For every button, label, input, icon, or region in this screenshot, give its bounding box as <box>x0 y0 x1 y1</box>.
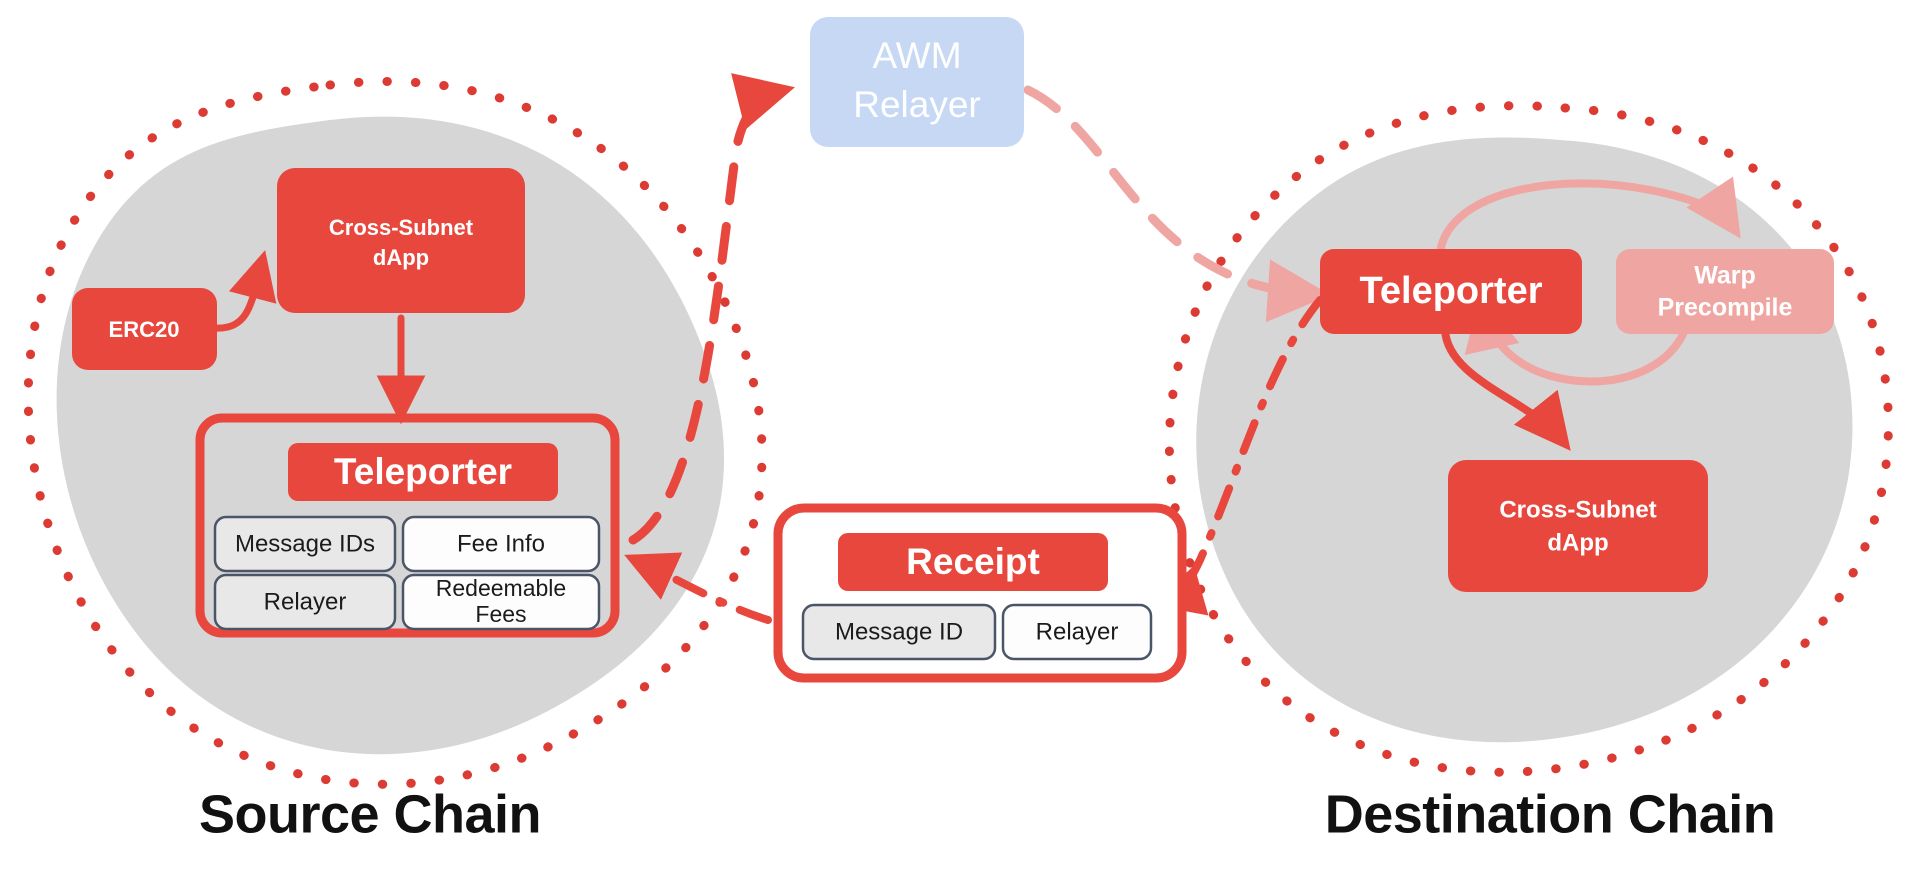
awm-relayer-label-line2: Relayer <box>853 84 981 125</box>
node-receipt[interactable]: Receipt Message ID Relayer <box>778 508 1182 678</box>
node-destination-cross-subnet-dapp[interactable]: Cross-Subnet dApp <box>1448 460 1708 592</box>
source-dapp-box[interactable] <box>277 168 525 313</box>
source-dapp-label-line1: Cross-Subnet <box>329 215 474 240</box>
destination-chain-blob-fill <box>1196 137 1852 742</box>
receipt-field-relayer-label: Relayer <box>1036 618 1119 645</box>
source-field-fee-info-label: Fee Info <box>457 530 545 557</box>
source-field-relayer-label: Relayer <box>264 588 347 615</box>
destination-dapp-box[interactable] <box>1448 460 1708 592</box>
warp-precompile-label-line2: Precompile <box>1658 294 1793 322</box>
receipt-field-relayer[interactable]: Relayer <box>1003 605 1151 659</box>
source-field-redeemable-fees-label-line2: Fees <box>475 601 526 627</box>
destination-dapp-label-line1: Cross-Subnet <box>1499 496 1656 523</box>
receipt-field-message-id[interactable]: Message ID <box>803 605 995 659</box>
destination-dapp-label-line2: dApp <box>1547 529 1608 556</box>
awm-relayer-label-line1: AWM <box>872 35 961 76</box>
node-awm-relayer[interactable]: AWM Relayer <box>810 17 1024 147</box>
source-teleporter-field-message-ids[interactable]: Message IDs <box>215 517 395 571</box>
source-field-redeemable-fees-label-line1: Redeemable <box>436 575 566 601</box>
source-teleporter-field-relayer[interactable]: Relayer <box>215 575 395 629</box>
source-teleporter-field-redeemable-fees[interactable]: Redeemable Fees <box>403 575 599 629</box>
destination-teleporter-label: Teleporter <box>1359 270 1542 312</box>
node-destination-teleporter[interactable]: Teleporter <box>1320 249 1582 334</box>
node-warp-precompile[interactable]: Warp Precompile <box>1616 249 1834 334</box>
node-source-cross-subnet-dapp[interactable]: Cross-Subnet dApp <box>277 168 525 313</box>
receipt-title: Receipt <box>906 541 1040 582</box>
warp-precompile-label-line1: Warp <box>1694 262 1756 290</box>
teleporter-architecture-diagram: ERC20 Cross-Subnet dApp Teleporter Messa… <box>0 0 1920 892</box>
source-teleporter-title: Teleporter <box>334 451 512 492</box>
source-teleporter-field-fee-info[interactable]: Fee Info <box>403 517 599 571</box>
destination-chain-region <box>1169 106 1888 772</box>
destination-chain-label: Destination Chain <box>1325 784 1776 844</box>
receipt-field-message-id-label: Message ID <box>835 618 963 645</box>
diagram-root: ERC20 Cross-Subnet dApp Teleporter Messa… <box>0 0 1920 892</box>
source-chain-label: Source Chain <box>199 784 541 844</box>
source-field-message-ids-label: Message IDs <box>235 530 375 557</box>
erc20-label: ERC20 <box>109 317 180 342</box>
node-erc20[interactable]: ERC20 <box>72 288 217 370</box>
source-dapp-label-line2: dApp <box>373 245 429 270</box>
